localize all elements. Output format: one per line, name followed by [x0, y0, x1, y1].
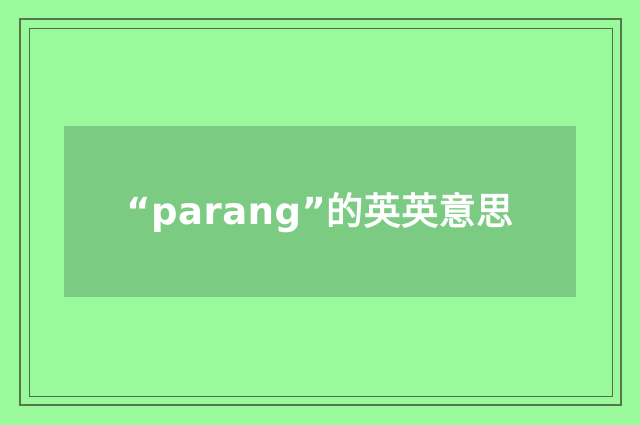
- title-panel: “parang”的英英意思: [64, 126, 576, 297]
- page-root: “parang”的英英意思: [0, 0, 640, 425]
- page-title: “parang”的英英意思: [64, 188, 576, 235]
